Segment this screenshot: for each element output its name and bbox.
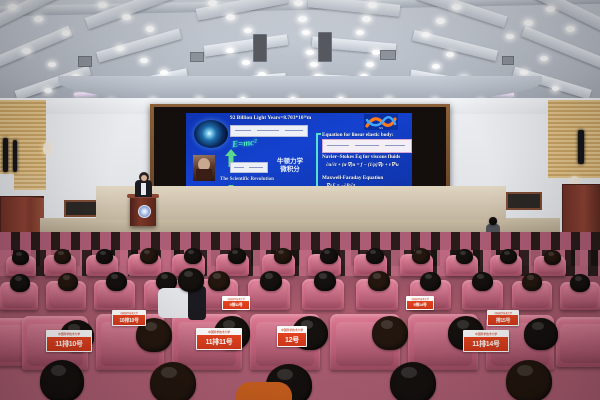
audience-head xyxy=(260,271,282,291)
emc-formula: E=mc² xyxy=(232,137,258,150)
projection-booth-window-left[interactable] xyxy=(64,200,98,217)
wall-sconce-right xyxy=(570,176,579,184)
stage-backdrop-wall xyxy=(96,186,506,220)
section-heading-elastic: Equation for linear elastic body: xyxy=(322,132,394,138)
audience-head xyxy=(184,248,202,264)
audience-head xyxy=(500,249,517,264)
audience-head xyxy=(40,360,84,400)
audience-head xyxy=(54,249,71,264)
newton-equation-box xyxy=(230,162,268,173)
audience-head xyxy=(412,248,430,264)
audience-head xyxy=(420,272,441,291)
audience-head xyxy=(366,248,384,264)
seat-number-plate: 中国科学技术大学11排14号 xyxy=(463,330,509,352)
audience-head xyxy=(178,268,204,292)
audience-head xyxy=(472,272,493,291)
audience-head xyxy=(208,271,230,291)
seat-plate-number: 12号 xyxy=(278,333,306,346)
audience-head xyxy=(390,362,436,400)
einstein-field-equation-box xyxy=(230,125,308,137)
audience-head xyxy=(544,250,561,265)
audience-head xyxy=(320,248,338,264)
seat-number-plate: 中国科学技术大学12号 xyxy=(277,326,307,347)
seat-plate-number: 11排10号 xyxy=(47,337,91,351)
audience-head xyxy=(12,250,29,265)
seat-number-plate: 中国科学技术大学9排14号 xyxy=(406,296,434,310)
university-crest xyxy=(138,205,151,218)
seat-number-plate: 中国科学技术大学11排10号 xyxy=(46,330,92,352)
presenter-face xyxy=(141,175,147,181)
side-attendee-right-head xyxy=(489,217,497,225)
audience-head xyxy=(150,362,196,400)
svg-text:NS: NS xyxy=(379,126,383,130)
audience-head xyxy=(456,249,473,264)
audience-head xyxy=(570,274,590,292)
audience-head xyxy=(368,271,390,291)
audience-head xyxy=(228,248,246,264)
left-wall-speaker-2 xyxy=(13,140,17,172)
left-wall-speaker xyxy=(3,138,8,172)
seat-plate-number: 11排14号 xyxy=(464,337,508,351)
seat-number-plate: 中国科学技术大学11排11号 xyxy=(196,328,242,350)
audience-head xyxy=(314,271,336,291)
ns-swoosh-logo: NS xyxy=(364,114,398,130)
seat-plate-number: 10排10号 xyxy=(113,315,145,325)
seat[interactable] xyxy=(556,317,600,367)
seat-plate-number: 9排11号 xyxy=(223,301,249,309)
audience-head xyxy=(274,248,292,264)
audience-head xyxy=(372,316,408,350)
wall-sconce-left xyxy=(43,142,51,155)
section-heading-navier-stokes: Navier–Stokes Eq for viscous fluids xyxy=(322,154,400,160)
section-heading-maxwell-faraday: Maxwell-Faraday Equation xyxy=(322,175,383,181)
elastic-formula-box xyxy=(322,139,412,153)
audience-head xyxy=(140,248,158,264)
audience-head xyxy=(522,273,542,291)
seat-plate-number: 11排11号 xyxy=(197,335,241,349)
spiral-galaxy-image xyxy=(194,120,228,148)
projection-booth-window-right[interactable] xyxy=(506,192,542,210)
seat-number-plate: 中国科学技术大学10排10号 xyxy=(112,310,146,326)
navier-stokes-formula: ∂u/∂t + (u·∇)u = f − (1/ρ)∇p + ν∇²u xyxy=(326,162,399,168)
audience-head xyxy=(106,272,127,291)
seat-plate-number: 9排14号 xyxy=(407,301,433,309)
audience-orange-jacket xyxy=(236,382,292,400)
seat-number-plate: 中国科学技术大学排15号 xyxy=(487,310,519,326)
seat-number-plate: 中国科学技术大学9排11号 xyxy=(222,296,250,310)
presenter-shirt xyxy=(141,183,146,195)
seat-plate-number: 排15号 xyxy=(488,315,518,325)
audience-head xyxy=(58,273,78,291)
chinese-mechanics-label: 牛顿力学 xyxy=(270,159,310,166)
chinese-calculus-label: 微积分 xyxy=(270,167,310,174)
wood-slat-acoustic-panel-left-inner xyxy=(14,112,46,190)
slide-header: 92 Billion Light Years=8.703*10²⁶m xyxy=(230,115,311,121)
newton-portrait-image xyxy=(193,155,215,181)
right-wall-speaker xyxy=(578,130,584,164)
scientific-revolution-caption: The Scientific Revolution xyxy=(220,177,274,182)
audience-head xyxy=(96,249,113,264)
audience-head xyxy=(524,318,558,350)
auditorium-photo: 92 Billion Light Years=8.703*10²⁶m NS E=… xyxy=(0,0,600,400)
audience-head xyxy=(10,274,30,292)
audience-head xyxy=(506,360,552,400)
